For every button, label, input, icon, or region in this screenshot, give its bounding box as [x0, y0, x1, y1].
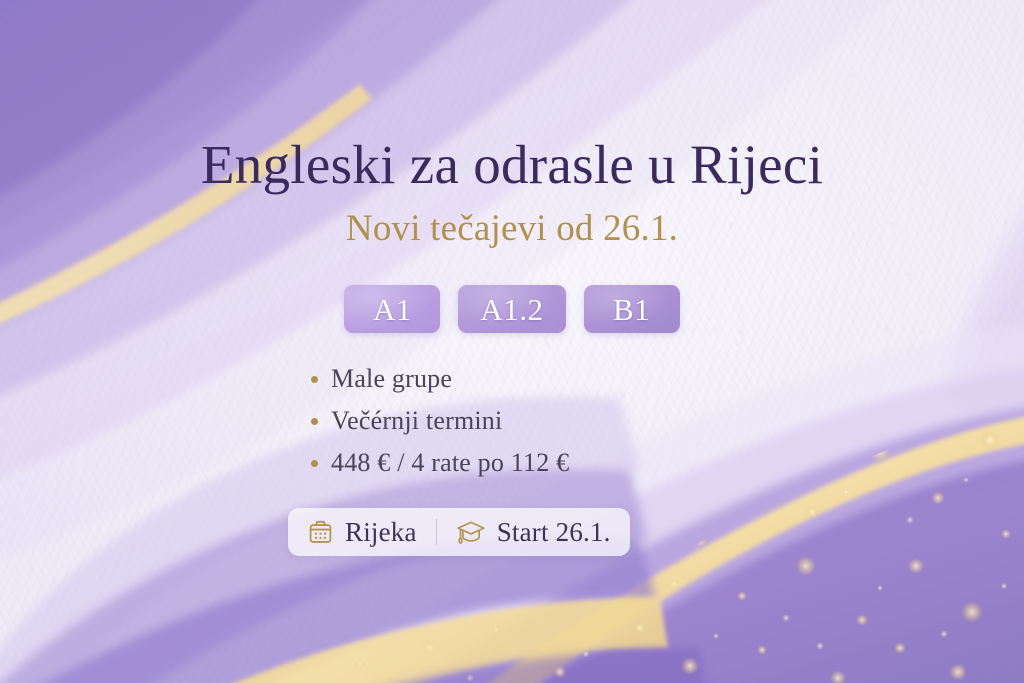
feature-label: Male grupe — [331, 366, 452, 392]
level-badge-label: A1 — [373, 294, 412, 325]
meta-item-location[interactable]: Rijeka — [288, 508, 436, 556]
level-badge-b1[interactable]: B1 — [584, 285, 680, 333]
bullet-dot-icon — [311, 418, 318, 425]
meta-label-location: Rijeka — [345, 519, 417, 546]
promotional-poster: Engleski za odrasle u Rijeci Novi tečaje… — [0, 0, 1024, 683]
level-badge-a12[interactable]: A1.2 — [458, 285, 565, 333]
list-item: 448 € / 4 rate po 112 € — [311, 442, 569, 484]
feature-label: Večérnji termini — [331, 408, 502, 434]
poster-content: Engleski za odrasle u Rijeci Novi tečaje… — [0, 0, 1024, 683]
feature-list: Male grupe Večérnji termini 448 € / 4 ra… — [0, 358, 1024, 484]
meta-item-start-date[interactable]: Start 26.1. — [437, 508, 630, 556]
level-badge-label: A1.2 — [480, 294, 543, 325]
bullet-dot-icon — [311, 460, 318, 467]
graduation-cap-icon — [456, 518, 486, 546]
meta-label-start-date: Start 26.1. — [497, 519, 611, 546]
level-badge-label: B1 — [613, 294, 650, 325]
meta-info-chip: Rijeka Start 26.1. — [288, 508, 630, 556]
list-item: Večérnji termini — [311, 400, 502, 442]
page-subtitle: Novi tečajevi od 26.1. — [0, 208, 1024, 251]
calendar-icon — [307, 519, 334, 546]
course-level-badges: A1 A1.2 B1 — [0, 285, 1024, 333]
page-title: Engleski za odrasle u Rijeci — [0, 134, 1024, 196]
level-badge-a1[interactable]: A1 — [344, 285, 440, 333]
list-item: Male grupe — [311, 358, 452, 400]
bullet-dot-icon — [311, 376, 318, 383]
feature-label: 448 € / 4 rate po 112 € — [331, 450, 569, 476]
